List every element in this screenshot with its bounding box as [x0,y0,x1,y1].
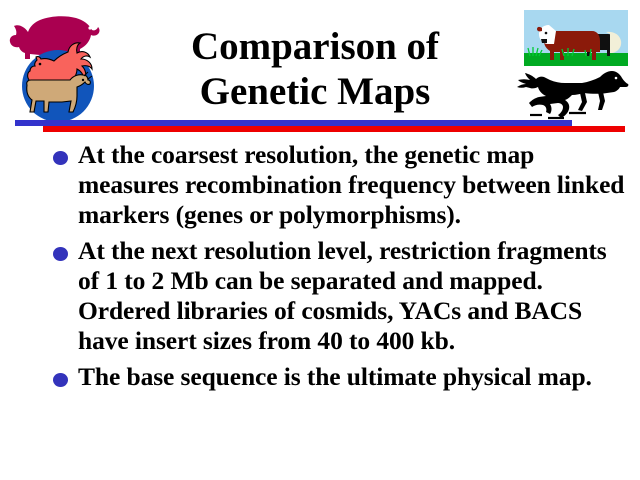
title-line-2: Genetic Maps [120,69,510,114]
cattle-pasture-photo [524,10,628,66]
divider-bar-red [43,126,625,132]
horse-icon [517,71,628,118]
farm-animals-logo [4,2,114,124]
slide-canvas: Comparison of Genetic Maps [0,0,640,480]
running-horse-silhouette [512,68,636,122]
title-line-1: Comparison of [120,24,510,69]
bullet-text: At the coarsest resolution, the genetic … [78,140,630,230]
slide-header: Comparison of Genetic Maps [0,0,640,135]
page-title: Comparison of Genetic Maps [120,24,510,114]
list-item: The base sequence is the ultimate physic… [50,362,630,392]
bullet-text: The base sequence is the ultimate physic… [78,362,630,392]
list-item: At the next resolution level, restrictio… [50,236,630,356]
bullet-text: At the next resolution level, restrictio… [78,236,630,356]
bullet-dot-icon [53,151,68,165]
bullet-dot-icon [53,373,68,387]
bullet-list: At the coarsest resolution, the genetic … [50,140,630,398]
bullet-dot-icon [53,247,68,261]
list-item: At the coarsest resolution, the genetic … [50,140,630,230]
dust-marks [530,113,586,118]
